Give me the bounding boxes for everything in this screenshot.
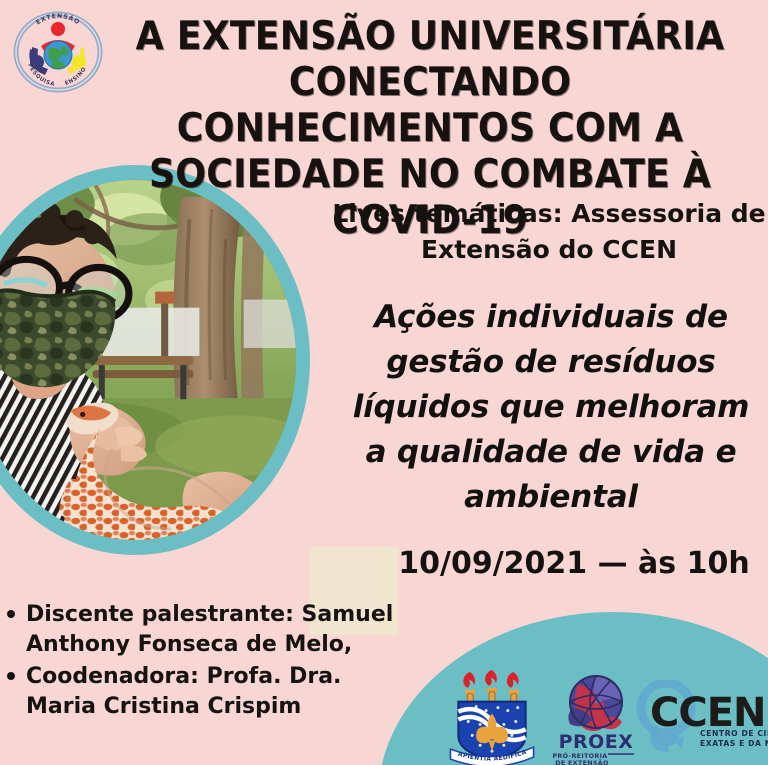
event-poster: EXTENSÃO PESQUISA ENSINO A EXTENSÃO UNIV… — [0, 0, 768, 765]
heading-line-1: A EXTENSÃO UNIVERSITÁRIA — [119, 14, 740, 60]
talk-title-line-3: líquidos que melhoram — [336, 385, 766, 430]
ufpb-crest-logo: SAPIENTIA AEDIFICAT — [446, 670, 538, 765]
institution-logos: SAPIENTIA AEDIFICAT PROEX — [434, 668, 768, 765]
credit-line-1: Discente palestrante: Samuel — [26, 602, 393, 627]
bullet-icon — [7, 610, 15, 618]
ccen-logo: CCEN CENTRO DE CIÊNCIAS EXATAS E DA NATU… — [634, 680, 768, 752]
talk-title-line-5: ambiental — [336, 475, 766, 520]
ccen-subtitle-line-1: CENTRO DE CIÊNCIAS — [700, 729, 768, 738]
credits-list: Discente palestrante: Samuel Anthony Fon… — [4, 600, 414, 724]
proex-subtitle-line-2: DE EXTENSÃO — [555, 758, 609, 765]
event-datetime: 10/09/2021 — às 10h — [380, 546, 768, 582]
heading-line-2: CONECTANDO CONHECIMENTOS COM A — [119, 60, 740, 152]
list-item: Discente palestrante: Samuel Anthony Fon… — [4, 600, 414, 660]
subtitle-line-2: Extensão do CCEN — [332, 232, 766, 268]
ccen-subtitle-line-2: EXATAS E DA NATUREZA — [700, 739, 768, 748]
credit-line-2: Cristina Crispim — [104, 694, 302, 719]
credit-line-2: Anthony Fonseca de Melo, — [26, 632, 352, 657]
subtitle-line-1: Lives temáticas: Assessoria de — [332, 196, 766, 232]
series-subtitle: Lives temáticas: Assessoria de Extensão … — [332, 196, 766, 268]
extension-ring-logo: EXTENSÃO PESQUISA ENSINO — [8, 2, 108, 102]
talk-title-line-4: a qualidade de vida e — [336, 430, 766, 475]
bullet-icon — [7, 672, 15, 680]
talk-title: Ações individuais de gestão de resíduos … — [336, 295, 766, 520]
talk-title-line-1: Ações individuais de — [336, 295, 766, 340]
list-item: Coodenadora: Profa. Dra. Maria Cristina … — [4, 662, 414, 722]
proex-logo: PROEX PRÓ-REITORIA DE EXTENSÃO — [546, 674, 646, 765]
proex-title: PROEX — [559, 731, 634, 753]
talk-title-line-2: gestão de resíduos — [336, 340, 766, 385]
